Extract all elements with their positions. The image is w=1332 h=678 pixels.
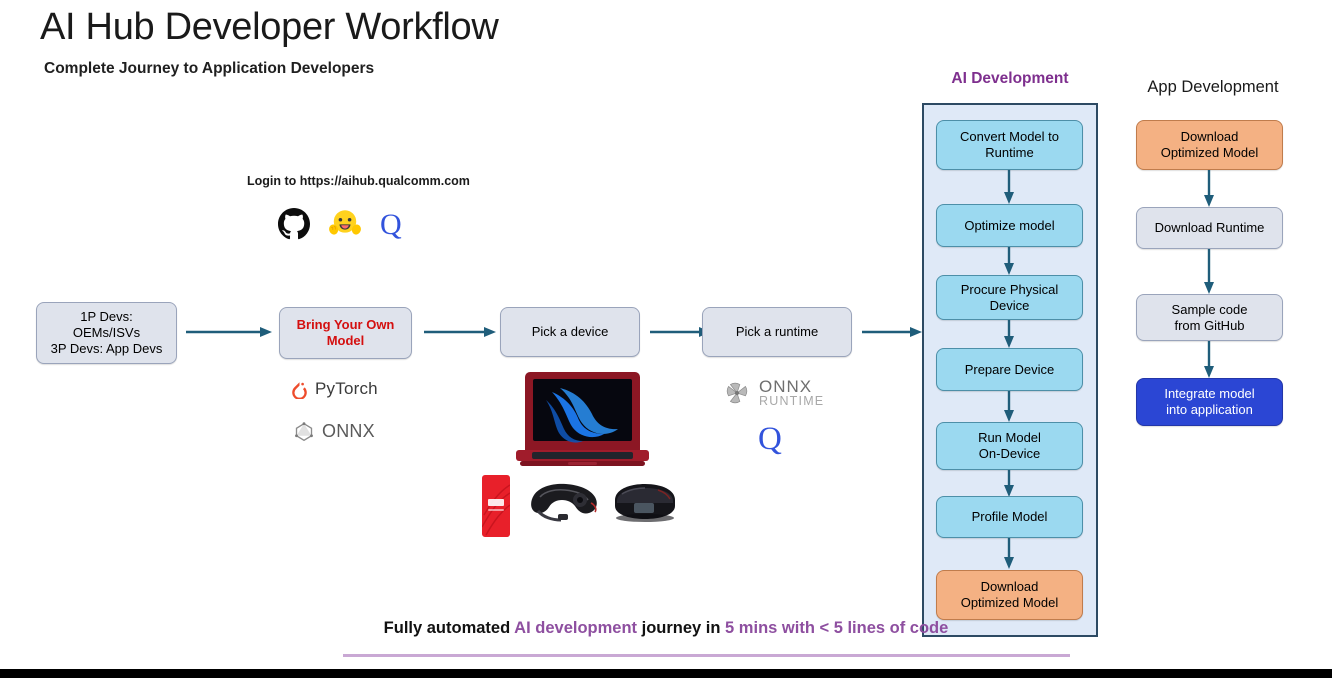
app-step-1-label: Download Runtime xyxy=(1155,220,1265,236)
arrow-devs-to-byom xyxy=(186,325,272,339)
app-step-0-label: Download Optimized Model xyxy=(1161,129,1259,161)
app-development-title: App Development xyxy=(1122,78,1304,97)
qualcomm-logo-runtime: Q xyxy=(758,420,786,461)
ai-step-optimize-model[interactable]: Optimize model xyxy=(936,204,1083,247)
pytorch-logo xyxy=(291,380,308,399)
flow-step-runtime-label: Pick a runtime xyxy=(736,324,818,340)
ai-step-1-label: Optimize model xyxy=(964,218,1054,234)
ai-arrow-5 xyxy=(1002,538,1016,569)
ai-arrow-0 xyxy=(1002,170,1016,204)
ai-step-4-label: Run Model On-Device xyxy=(978,430,1041,462)
onnx-runtime-logo xyxy=(722,378,752,408)
arrow-runtime-to-ai-development xyxy=(862,325,922,339)
pytorch-logo-group: PyTorch xyxy=(291,379,378,399)
arrow-byom-to-device xyxy=(424,325,496,339)
flow-step-devs-label: 1P Devs: OEMs/ISVs 3P Devs: App Devs xyxy=(51,309,163,357)
svg-text:Q: Q xyxy=(758,421,782,456)
footer-accent-2: 5 mins with < 5 lines of code xyxy=(725,619,948,637)
bottom-bar xyxy=(0,669,1332,678)
ai-arrow-4 xyxy=(1002,470,1016,497)
page-title: AI Hub Developer Workflow xyxy=(40,6,499,49)
app-arrow-2 xyxy=(1202,341,1216,378)
footer-caption: Fully automated AI development journey i… xyxy=(0,619,1332,638)
ai-step-prepare-device[interactable]: Prepare Device xyxy=(936,348,1083,391)
page-subtitle: Complete Journey to Application Develope… xyxy=(44,60,374,78)
ai-step-3-label: Prepare Device xyxy=(965,362,1055,378)
onnx-runtime-wordmark: ONNX RUNTIME xyxy=(759,378,824,408)
phone-device-image xyxy=(482,475,510,537)
footer-part-2: journey in xyxy=(637,619,725,637)
onnx-label: ONNX xyxy=(322,421,375,442)
ai-step-convert-model-to-runtime[interactable]: Convert Model to Runtime xyxy=(936,120,1083,170)
app-arrow-0 xyxy=(1202,170,1216,207)
onnx-runtime-sublabel: RUNTIME xyxy=(759,395,824,408)
ai-arrow-3 xyxy=(1002,391,1016,422)
flow-step-pick-a-device[interactable]: Pick a device xyxy=(500,307,640,357)
ai-step-procure-physical-device[interactable]: Procure Physical Device xyxy=(936,275,1083,320)
headset-device-image xyxy=(610,480,680,525)
ai-step-6-label: Download Optimized Model xyxy=(961,579,1059,611)
ai-step-run-model-on-device[interactable]: Run Model On-Device xyxy=(936,422,1083,470)
qualcomm-logo[interactable]: Q xyxy=(380,208,406,245)
ai-step-profile-model[interactable]: Profile Model xyxy=(936,496,1083,538)
login-provider-logos: Q xyxy=(278,208,406,245)
app-step-3-label: Integrate model into application xyxy=(1164,386,1254,418)
onnx-runtime-logo-group: ONNX RUNTIME xyxy=(722,378,824,408)
footer-underline xyxy=(343,654,1070,657)
app-arrow-1 xyxy=(1202,249,1216,294)
footer-accent-1: AI development xyxy=(514,619,637,637)
flow-step-device-label: Pick a device xyxy=(532,324,609,340)
footer-part-1: Fully automated xyxy=(384,619,515,637)
app-step-2-label: Sample code from GitHub xyxy=(1172,302,1248,334)
app-step-download-runtime[interactable]: Download Runtime xyxy=(1136,207,1283,249)
pytorch-label: PyTorch xyxy=(315,379,378,399)
flow-step-bring-your-own-model[interactable]: Bring Your Own Model xyxy=(279,307,412,359)
ai-development-title: AI Development xyxy=(922,70,1098,88)
ai-step-0-label: Convert Model to Runtime xyxy=(960,129,1059,161)
app-step-sample-code-from-github[interactable]: Sample code from GitHub xyxy=(1136,294,1283,341)
svg-text:Q: Q xyxy=(380,208,402,240)
flow-step-pick-a-runtime[interactable]: Pick a runtime xyxy=(702,307,852,357)
ai-step-5-label: Profile Model xyxy=(972,509,1048,525)
flow-step-devs[interactable]: 1P Devs: OEMs/ISVs 3P Devs: App Devs xyxy=(36,302,177,364)
onnx-logo-group: ONNX xyxy=(294,421,375,442)
slide-canvas: AI Hub Developer Workflow Complete Journ… xyxy=(0,0,1332,678)
ai-arrow-1 xyxy=(1002,247,1016,275)
ar-glasses-device-image xyxy=(528,481,600,526)
onnx-runtime-label: ONNX xyxy=(759,378,824,395)
flow-step-byom-label: Bring Your Own Model xyxy=(297,317,395,349)
onnx-logo xyxy=(294,422,314,442)
ai-step-2-label: Procure Physical Device xyxy=(961,282,1059,314)
device-images-group xyxy=(470,365,690,525)
huggingface-logo[interactable] xyxy=(328,208,362,245)
login-url-label: Login to https://aihub.qualcomm.com xyxy=(247,174,470,188)
laptop-device-image xyxy=(516,370,649,470)
github-logo[interactable] xyxy=(278,208,310,245)
ai-step-download-optimized-model[interactable]: Download Optimized Model xyxy=(936,570,1083,620)
ai-arrow-2 xyxy=(1002,320,1016,348)
app-step-download-optimized-model[interactable]: Download Optimized Model xyxy=(1136,120,1283,170)
app-step-integrate-model-into-application[interactable]: Integrate model into application xyxy=(1136,378,1283,426)
